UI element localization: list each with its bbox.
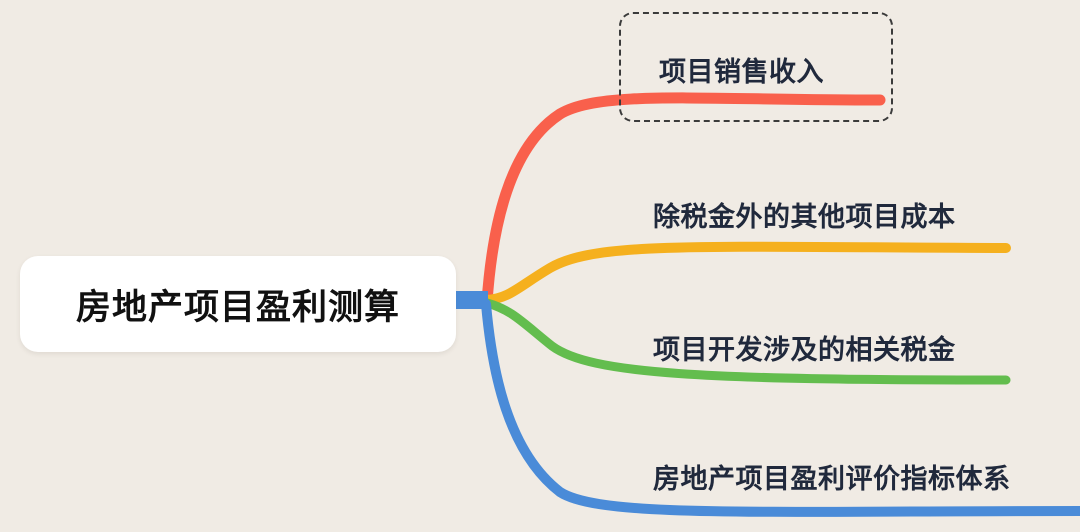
branch-label-profit-evaluation-index-system[interactable]: 房地产项目盈利评价指标体系 [653,457,1011,496]
central-node[interactable]: 房地产项目盈利测算 [20,256,456,352]
branch-label-other-project-costs[interactable]: 除税金外的其他项目成本 [653,195,956,234]
branch-label-related-taxes[interactable]: 项目开发涉及的相关税金 [653,328,956,367]
central-node-label: 房地产项目盈利测算 [76,279,400,330]
mindmap-canvas: 房地产项目盈利测算 项目销售收入 除税金外的其他项目成本 项目开发涉及的相关税金… [0,0,1080,532]
branch-connector-1[interactable] [487,247,1006,300]
branch-label-project-sales-revenue[interactable]: 项目销售收入 [659,50,824,89]
